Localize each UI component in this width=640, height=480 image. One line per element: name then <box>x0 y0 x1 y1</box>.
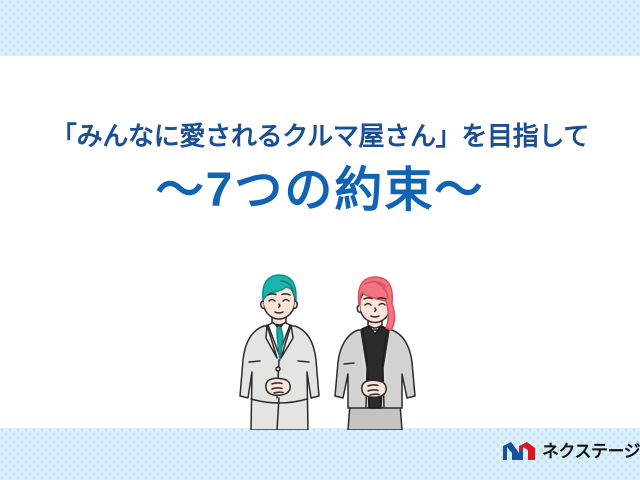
female-clasped-hands <box>362 380 386 397</box>
headline-line-primary: 「みんなに愛されるクルマ屋さん」を目指して <box>0 120 640 153</box>
promo-banner: 「みんなに愛されるクルマ屋さん」を目指して 〜7つの約束〜 <box>0 0 640 480</box>
male-staff-figure <box>240 275 319 430</box>
staff-illustration <box>236 268 416 430</box>
headline-block: 「みんなに愛されるクルマ屋さん」を目指して 〜7つの約束〜 <box>0 120 640 218</box>
nexstage-n-logo-icon <box>502 440 536 462</box>
male-clasped-hands <box>266 378 290 395</box>
headline-line-secondary: 〜7つの約束〜 <box>0 163 640 218</box>
brand-logo: ネクステージ <box>502 440 640 462</box>
brand-name-text: ネクステージ <box>542 443 640 460</box>
female-staff-figure <box>335 277 415 430</box>
top-dot-band <box>0 0 640 56</box>
